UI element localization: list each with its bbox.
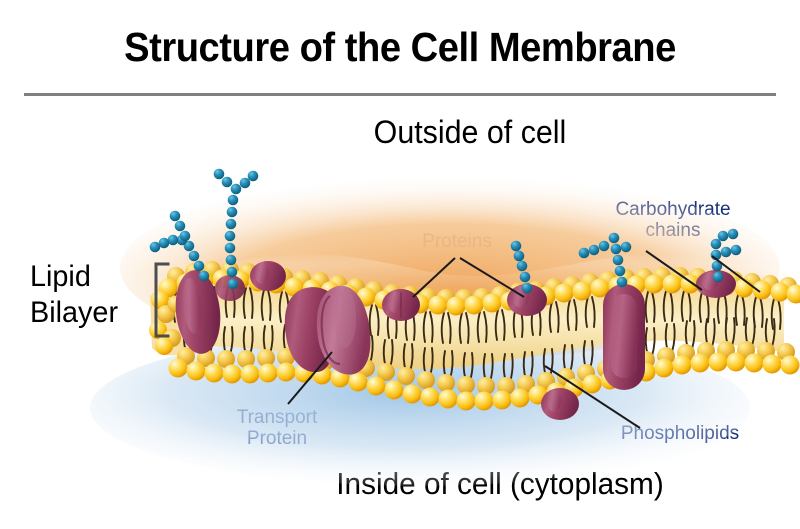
diagram-canvas: Structure of the Cell Membrane Outside o… (0, 0, 800, 529)
peripheral-protein-left (250, 261, 286, 291)
peripheral-protein-bottom (541, 388, 579, 420)
transport-protein[interactable] (285, 286, 371, 375)
integral-protein-right (603, 284, 645, 390)
membrane-illustration (0, 0, 800, 529)
peripheral-protein-center (382, 289, 420, 321)
